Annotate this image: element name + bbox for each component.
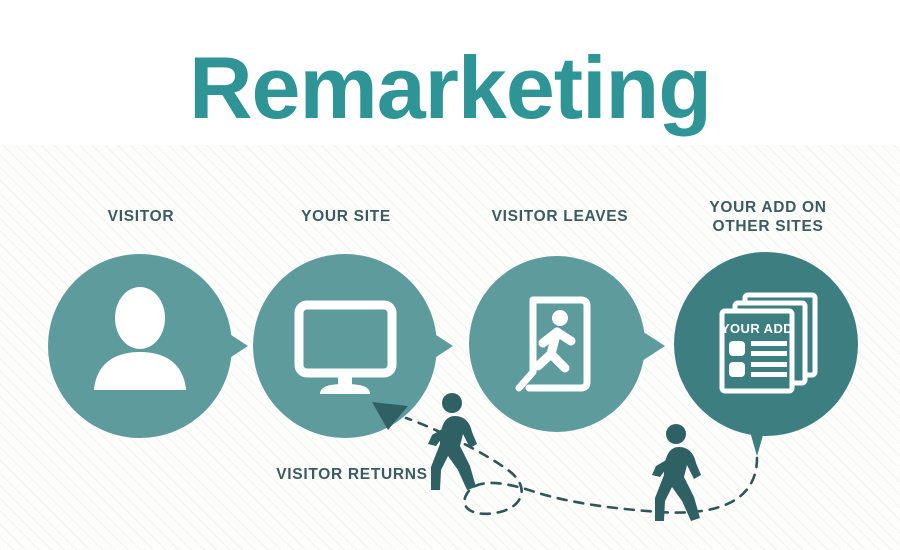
walker-near-site-icon <box>428 393 477 490</box>
walker-near-ads-icon <box>652 424 701 521</box>
step-node-visitor[interactable] <box>48 254 248 438</box>
step-node-your-site[interactable] <box>253 254 453 438</box>
step-circle-your-site <box>253 254 437 438</box>
stacked-ad-cards-icon: YOUR ADD <box>721 295 815 391</box>
step-node-your-add-on-other-sites[interactable]: YOUR ADD <box>674 252 858 456</box>
ad-card-headline: YOUR ADD <box>721 321 793 336</box>
infographic-canvas: Remarketing VISITOR YOUR SITE VISITOR LE… <box>0 0 900 550</box>
step-node-visitor-leaves[interactable] <box>469 256 665 432</box>
infographic-scene: YOUR ADD <box>0 0 900 550</box>
